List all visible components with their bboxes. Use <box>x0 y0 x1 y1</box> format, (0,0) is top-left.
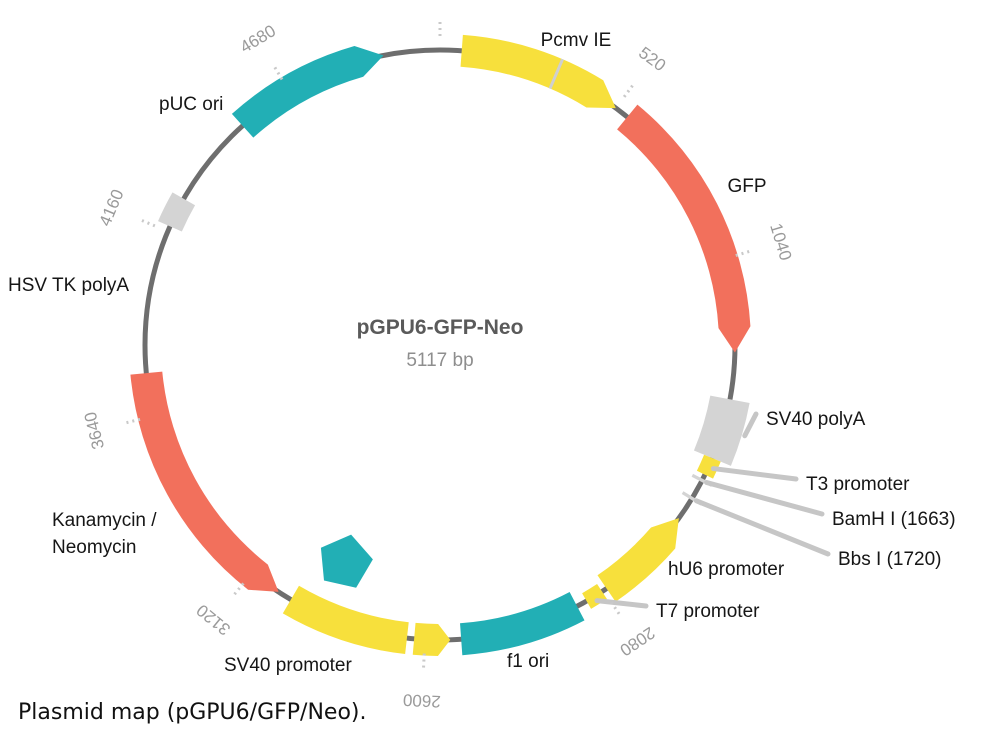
feature-unnamed-arrow[interactable] <box>413 623 451 656</box>
tickmark-tick-4160 <box>140 220 155 226</box>
label-puc-ori: pUC ori <box>159 94 223 115</box>
tick-label-3640: 3640 <box>81 410 109 451</box>
feature-sv40-promoter[interactable] <box>283 586 409 654</box>
feature-gfp[interactable] <box>617 105 750 353</box>
plasmid-size: 5117 bp <box>406 350 473 371</box>
tickmark-tick-2600 <box>423 654 424 670</box>
tick-label-520: 520 <box>635 43 669 75</box>
label-t7-promoter: T7 promoter <box>656 601 760 622</box>
feature-arcs <box>130 35 750 656</box>
tick-label-2600: 2600 <box>402 690 441 711</box>
label-f1-ori: f1 ori <box>507 651 549 672</box>
label-t3-promoter: T3 promoter <box>806 474 910 495</box>
leader-line-label-t7-promoter <box>597 601 646 606</box>
tick-label-3120: 3120 <box>193 600 234 639</box>
map-text-layer: pGPU6-GFP-Neo 5117 bp SV40 polyAT3 promo… <box>8 30 956 676</box>
feature-kanamycin-neomycin[interactable] <box>130 372 278 592</box>
plasmid-figure: 5201040208026003120364041604680 pGPU6-GF… <box>0 0 982 744</box>
label-kan-neo-2: Neomycin <box>52 537 136 558</box>
label-sv40-polya: SV40 polyA <box>766 409 866 430</box>
tick-label-1040: 1040 <box>766 221 795 263</box>
leader-line-label-t3-promoter <box>713 469 796 479</box>
label-sv40-prom: SV40 promoter <box>224 655 352 676</box>
label-bbs-i: Bbs I (1720) <box>838 549 942 570</box>
tick-label-2080: 2080 <box>616 623 658 660</box>
plasmid-name: pGPU6-GFP-Neo <box>357 316 524 339</box>
feature-hsv-tk-polya[interactable] <box>158 192 195 231</box>
label-kan-neo-1: Kanamycin / <box>52 510 157 531</box>
feature-hu6-promoter[interactable] <box>597 518 678 602</box>
tickmark-tick-1040 <box>736 251 751 256</box>
feature-puc-ori[interactable] <box>232 46 384 138</box>
label-pcmv-ie: Pcmv IE <box>541 30 612 51</box>
tickmark-tick-520 <box>624 84 634 97</box>
feature-f1-ori[interactable] <box>460 592 584 655</box>
label-hu6: hU6 promoter <box>668 559 785 580</box>
tickmark-tick-4680 <box>274 66 282 80</box>
label-hsv-tk: HSV TK polyA <box>8 275 129 296</box>
tickmark-tick-3120 <box>233 583 243 595</box>
tick-label-4160: 4160 <box>95 187 127 229</box>
tick-label-4680: 4680 <box>237 21 279 57</box>
label-bamh-i: BamH I (1663) <box>832 509 956 530</box>
inner-marker-layer <box>321 535 373 588</box>
figure-caption: Plasmid map (pGPU6/GFP/Neo). <box>18 700 366 725</box>
inner-pentagon-icon[interactable] <box>321 535 373 588</box>
tickmark-tick-3640 <box>125 419 141 423</box>
feature-sv40-polya[interactable] <box>694 396 750 466</box>
plasmid-map-svg: 5201040208026003120364041604680 pGPU6-GF… <box>0 0 982 744</box>
label-gfp: GFP <box>727 176 766 197</box>
